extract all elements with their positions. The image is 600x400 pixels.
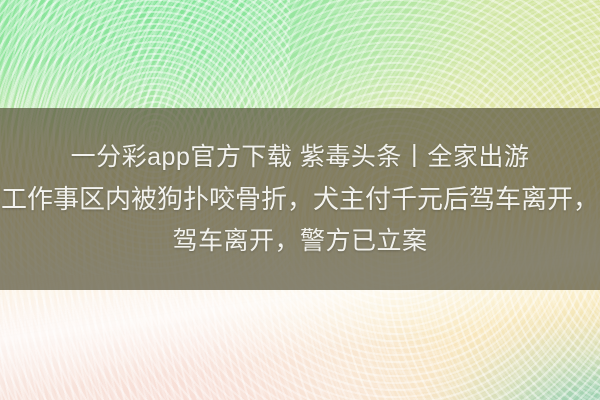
headline-line-3: 驾车离开，警方已立案 [172,221,427,261]
headline-line-2: 工作事区内被狗扑咬骨折，犬主付千元后驾车离开， [1,179,599,219]
headline-text-block: 一分彩app官方下载 紫毒头条丨全家出游 工作事区内被狗扑咬骨折，犬主付千元后驾… [0,108,600,290]
banner-image: 一分彩app官方下载 紫毒头条丨全家出游 工作事区内被狗扑咬骨折，犬主付千元后驾… [0,0,600,400]
headline-line-1: 一分彩app官方下载 紫毒头条丨全家出游 [71,137,530,177]
